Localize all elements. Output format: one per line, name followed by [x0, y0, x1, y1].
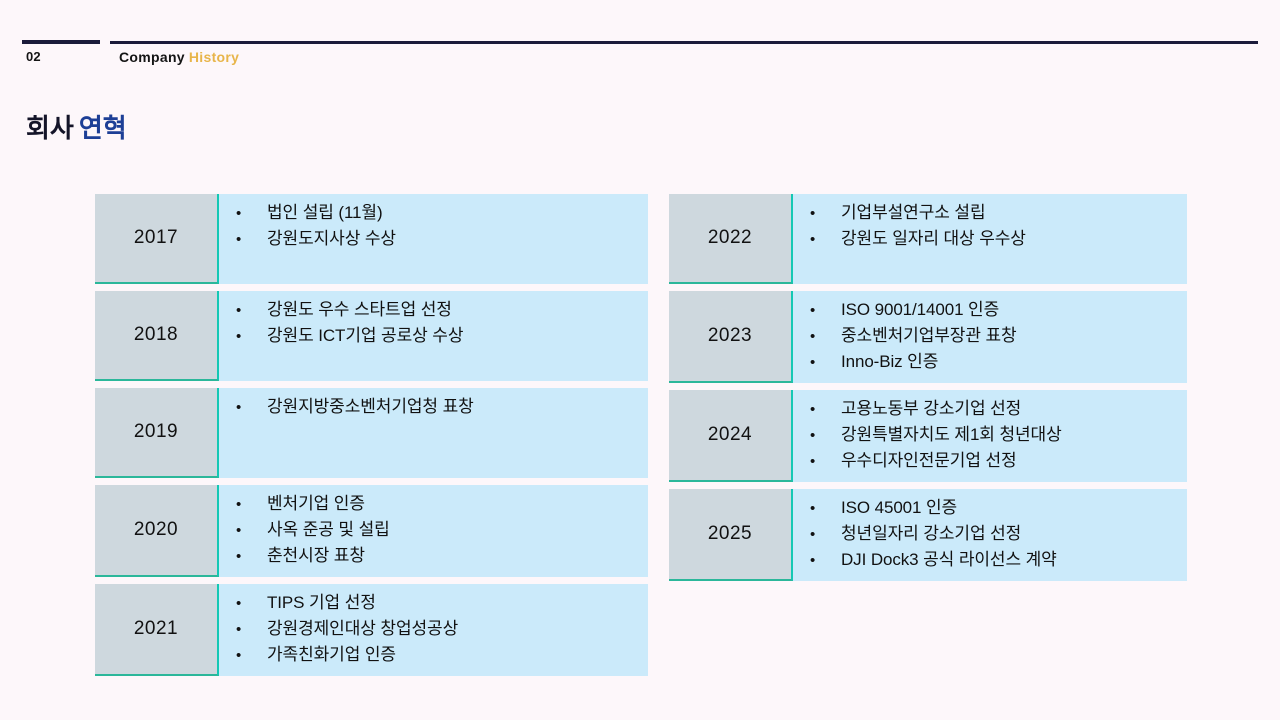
- list-item-label: TIPS 기업 선정: [267, 594, 640, 611]
- bullet-icon: •: [233, 329, 267, 344]
- list-item: •강원특별자치도 제1회 청년대상: [807, 426, 1179, 443]
- header-caption: CompanyHistory: [119, 49, 239, 65]
- list-item: •기업부설연구소 설립: [807, 204, 1179, 221]
- list-item: •중소벤처기업부장관 표창: [807, 327, 1179, 344]
- year-label: 2020: [134, 519, 178, 541]
- year-label: 2025: [708, 523, 752, 545]
- achievements-cell: •ISO 9001/14001 인증•중소벤처기업부장관 표창•Inno-Biz…: [793, 291, 1187, 383]
- achievements-cell: •고용노동부 강소기업 선정•강원특별자치도 제1회 청년대상•우수디자인전문기…: [793, 390, 1187, 482]
- list-item-label: 강원도 ICT기업 공로상 수상: [267, 327, 640, 344]
- list-item-label: DJI Dock3 공식 라이선스 계약: [841, 551, 1179, 568]
- timeline-column-left: 2017•법인 설립 (11월)•강원도지사상 수상2018•강원도 우수 스타…: [95, 194, 648, 683]
- year-cell: 2017: [95, 194, 219, 284]
- header-rule-long: [110, 41, 1258, 44]
- list-item: •Inno-Biz 인증: [807, 353, 1179, 370]
- list-item-label: 강원도 일자리 대상 우수상: [841, 230, 1179, 247]
- achievements-cell: •ISO 45001 인증•청년일자리 강소기업 선정•DJI Dock3 공식…: [793, 489, 1187, 581]
- year-label: 2018: [134, 324, 178, 346]
- bullet-icon: •: [807, 232, 841, 247]
- achievements-cell: •기업부설연구소 설립•강원도 일자리 대상 우수상: [793, 194, 1187, 284]
- list-item-label: 강원경제인대상 창업성공상: [267, 620, 640, 637]
- list-item: •강원경제인대상 창업성공상: [233, 620, 640, 637]
- list-item: •ISO 45001 인증: [807, 499, 1179, 516]
- list-item-label: 강원지방중소벤처기업청 표창: [267, 398, 640, 415]
- bullet-icon: •: [233, 400, 267, 415]
- list-item: •우수디자인전문기업 선정: [807, 452, 1179, 469]
- year-cell: 2019: [95, 388, 219, 478]
- bullet-icon: •: [233, 232, 267, 247]
- year-cell: 2022: [669, 194, 793, 284]
- history-row: 2022•기업부설연구소 설립•강원도 일자리 대상 우수상: [669, 194, 1187, 284]
- list-item: •벤처기업 인증: [233, 495, 640, 512]
- history-row: 2017•법인 설립 (11월)•강원도지사상 수상: [95, 194, 648, 284]
- header-caption-accent: History: [189, 49, 239, 65]
- list-item: •DJI Dock3 공식 라이선스 계약: [807, 551, 1179, 568]
- list-item-label: 법인 설립 (11월): [267, 204, 640, 221]
- year-label: 2017: [134, 227, 178, 249]
- bullet-icon: •: [233, 497, 267, 512]
- list-item-label: 중소벤처기업부장관 표창: [841, 327, 1179, 344]
- year-cell: 2024: [669, 390, 793, 482]
- history-row: 2024•고용노동부 강소기업 선정•강원특별자치도 제1회 청년대상•우수디자…: [669, 390, 1187, 482]
- section-number: 02: [26, 49, 41, 64]
- year-label: 2024: [708, 424, 752, 446]
- list-item-label: 사옥 준공 및 설립: [267, 521, 640, 538]
- list-item: •청년일자리 강소기업 선정: [807, 525, 1179, 542]
- list-item: •ISO 9001/14001 인증: [807, 301, 1179, 318]
- bullet-icon: •: [233, 303, 267, 318]
- bullet-icon: •: [233, 523, 267, 538]
- list-item: •TIPS 기업 선정: [233, 594, 640, 611]
- achievements-cell: •강원도 우수 스타트업 선정•강원도 ICT기업 공로상 수상: [219, 291, 648, 381]
- achievements-cell: •벤처기업 인증•사옥 준공 및 설립•춘천시장 표창: [219, 485, 648, 577]
- list-item: •사옥 준공 및 설립: [233, 521, 640, 538]
- year-cell: 2018: [95, 291, 219, 381]
- history-row: 2018•강원도 우수 스타트업 선정•강원도 ICT기업 공로상 수상: [95, 291, 648, 381]
- history-row: 2025•ISO 45001 인증•청년일자리 강소기업 선정•DJI Dock…: [669, 489, 1187, 581]
- list-item-label: 강원도 우수 스타트업 선정: [267, 301, 640, 318]
- bullet-icon: •: [233, 622, 267, 637]
- list-item: •고용노동부 강소기업 선정: [807, 400, 1179, 417]
- bullet-icon: •: [233, 648, 267, 663]
- list-item-label: 벤처기업 인증: [267, 495, 640, 512]
- list-item-label: 기업부설연구소 설립: [841, 204, 1179, 221]
- bullet-icon: •: [807, 527, 841, 542]
- year-cell: 2021: [95, 584, 219, 676]
- bullet-icon: •: [807, 454, 841, 469]
- bullet-icon: •: [807, 553, 841, 568]
- list-item: •강원도지사상 수상: [233, 230, 640, 247]
- list-item: •법인 설립 (11월): [233, 204, 640, 221]
- year-label: 2022: [708, 227, 752, 249]
- list-item-label: ISO 9001/14001 인증: [841, 301, 1179, 318]
- list-item: •춘천시장 표창: [233, 547, 640, 564]
- page-title-accent: 연혁: [79, 113, 127, 143]
- list-item-label: 강원도지사상 수상: [267, 230, 640, 247]
- list-item-label: 춘천시장 표창: [267, 547, 640, 564]
- timeline-column-right: 2022•기업부설연구소 설립•강원도 일자리 대상 우수상2023•ISO 9…: [669, 194, 1187, 588]
- year-label: 2023: [708, 325, 752, 347]
- achievements-cell: •강원지방중소벤처기업청 표창: [219, 388, 648, 478]
- list-item-label: Inno-Biz 인증: [841, 353, 1179, 370]
- bullet-icon: •: [807, 355, 841, 370]
- header-caption-main: Company: [119, 49, 185, 65]
- list-item-label: 고용노동부 강소기업 선정: [841, 400, 1179, 417]
- bullet-icon: •: [233, 549, 267, 564]
- history-row: 2023•ISO 9001/14001 인증•중소벤처기업부장관 표창•Inno…: [669, 291, 1187, 383]
- list-item: •강원도 우수 스타트업 선정: [233, 301, 640, 318]
- achievements-cell: •법인 설립 (11월)•강원도지사상 수상: [219, 194, 648, 284]
- bullet-icon: •: [807, 428, 841, 443]
- year-label: 2019: [134, 421, 178, 443]
- list-item-label: ISO 45001 인증: [841, 499, 1179, 516]
- achievements-cell: •TIPS 기업 선정•강원경제인대상 창업성공상•가족친화기업 인증: [219, 584, 648, 676]
- bullet-icon: •: [807, 303, 841, 318]
- list-item: •가족친화기업 인증: [233, 646, 640, 663]
- list-item: •강원도 일자리 대상 우수상: [807, 230, 1179, 247]
- year-label: 2021: [134, 618, 178, 640]
- header-rule-short: [22, 40, 100, 44]
- bullet-icon: •: [233, 206, 267, 221]
- history-row: 2019•강원지방중소벤처기업청 표창: [95, 388, 648, 478]
- page-header: 02 CompanyHistory: [0, 0, 1280, 90]
- bullet-icon: •: [233, 596, 267, 611]
- bullet-icon: •: [807, 402, 841, 417]
- list-item: •강원도 ICT기업 공로상 수상: [233, 327, 640, 344]
- list-item: •강원지방중소벤처기업청 표창: [233, 398, 640, 415]
- list-item-label: 우수디자인전문기업 선정: [841, 452, 1179, 469]
- bullet-icon: •: [807, 206, 841, 221]
- list-item-label: 청년일자리 강소기업 선정: [841, 525, 1179, 542]
- bullet-icon: •: [807, 501, 841, 516]
- year-cell: 2023: [669, 291, 793, 383]
- page-title: 회사연혁: [26, 108, 127, 145]
- bullet-icon: •: [807, 329, 841, 344]
- list-item-label: 가족친화기업 인증: [267, 646, 640, 663]
- year-cell: 2025: [669, 489, 793, 581]
- list-item-label: 강원특별자치도 제1회 청년대상: [841, 426, 1179, 443]
- history-row: 2020•벤처기업 인증•사옥 준공 및 설립•춘천시장 표창: [95, 485, 648, 577]
- page-title-main: 회사: [26, 113, 74, 143]
- year-cell: 2020: [95, 485, 219, 577]
- history-row: 2021•TIPS 기업 선정•강원경제인대상 창업성공상•가족친화기업 인증: [95, 584, 648, 676]
